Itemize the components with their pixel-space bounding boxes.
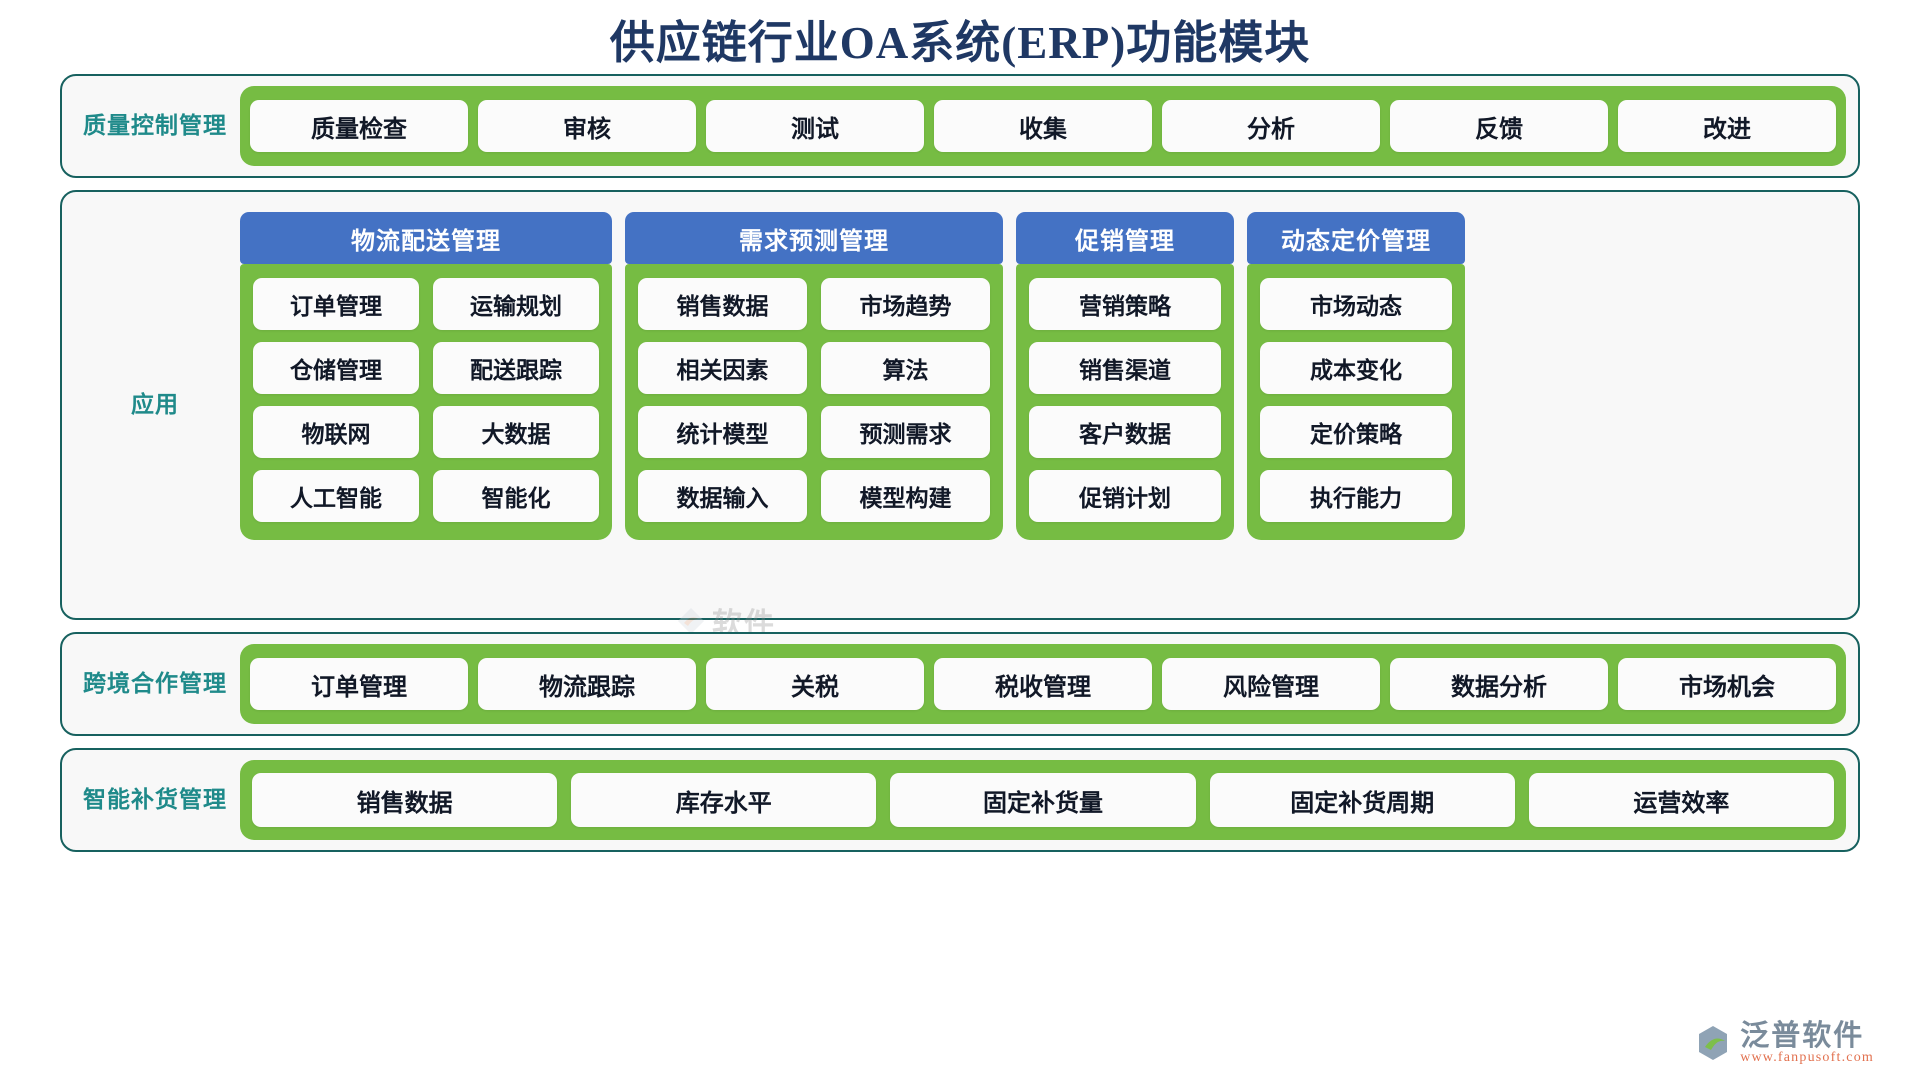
quality-item-3[interactable]: 收集 bbox=[934, 100, 1152, 152]
footer-logo-texts: 泛普软件 www.fanpusoft.com bbox=[1740, 1021, 1874, 1066]
diagram-canvas: 供应链行业OA系统(ERP)功能模块 质量控制管理 质量检查 审核 测试 收集 … bbox=[0, 0, 1920, 1080]
replenishment-item-0[interactable]: 销售数据 bbox=[252, 773, 557, 827]
forecast-item-3[interactable]: 算法 bbox=[821, 342, 990, 394]
replenishment-items-strip: 销售数据 库存水平 固定补货量 固定补货周期 运营效率 bbox=[240, 760, 1846, 840]
forecast-item-5[interactable]: 预测需求 bbox=[821, 406, 990, 458]
cross-border-item-5[interactable]: 数据分析 bbox=[1390, 658, 1608, 710]
logistics-item-3[interactable]: 配送跟踪 bbox=[433, 342, 599, 394]
app-column-body-demand-forecast: 销售数据 市场趋势 相关因素 算法 统计模型 预测需求 数据输入 模型构建 bbox=[625, 264, 1003, 540]
promotion-item-3[interactable]: 促销计划 bbox=[1029, 470, 1221, 522]
forecast-item-0[interactable]: 销售数据 bbox=[638, 278, 807, 330]
promotion-item-1[interactable]: 销售渠道 bbox=[1029, 342, 1221, 394]
section-label-application: 应用 bbox=[70, 192, 240, 618]
app-column-demand-forecast: 需求预测管理 销售数据 市场趋势 相关因素 算法 统计模型 预测需求 数据输入 … bbox=[625, 212, 1003, 540]
footer-logo-name: 泛普软件 bbox=[1740, 1021, 1874, 1051]
app-column-header-logistics: 物流配送管理 bbox=[240, 212, 612, 264]
promotion-item-2[interactable]: 客户数据 bbox=[1029, 406, 1221, 458]
section-cross-border: 跨境合作管理 订单管理 物流跟踪 关税 税收管理 风险管理 数据分析 市场机会 bbox=[60, 632, 1860, 736]
logistics-item-7[interactable]: 智能化 bbox=[433, 470, 599, 522]
section-quality-control: 质量控制管理 质量检查 审核 测试 收集 分析 反馈 改进 bbox=[60, 74, 1860, 178]
logistics-item-5[interactable]: 大数据 bbox=[433, 406, 599, 458]
logistics-item-2[interactable]: 仓储管理 bbox=[253, 342, 419, 394]
cross-border-item-1[interactable]: 物流跟踪 bbox=[478, 658, 696, 710]
replenishment-item-4[interactable]: 运营效率 bbox=[1529, 773, 1834, 827]
footer-logo: 泛普软件 www.fanpusoft.com bbox=[1694, 1021, 1874, 1066]
section-smart-replenishment: 智能补货管理 销售数据 库存水平 固定补货量 固定补货周期 运营效率 bbox=[60, 748, 1860, 852]
app-column-header-dynamic-pricing: 动态定价管理 bbox=[1247, 212, 1465, 264]
app-column-body-dynamic-pricing: 市场动态 成本变化 定价策略 执行能力 bbox=[1247, 264, 1465, 540]
forecast-item-6[interactable]: 数据输入 bbox=[638, 470, 807, 522]
footer-logo-url: www.fanpusoft.com bbox=[1740, 1051, 1874, 1066]
app-column-header-demand-forecast: 需求预测管理 bbox=[625, 212, 1003, 264]
pricing-item-3[interactable]: 执行能力 bbox=[1260, 470, 1452, 522]
pricing-item-2[interactable]: 定价策略 bbox=[1260, 406, 1452, 458]
app-column-dynamic-pricing: 动态定价管理 市场动态 成本变化 定价策略 执行能力 bbox=[1247, 212, 1465, 540]
cross-border-item-6[interactable]: 市场机会 bbox=[1618, 658, 1836, 710]
replenishment-item-3[interactable]: 固定补货周期 bbox=[1210, 773, 1515, 827]
pricing-item-0[interactable]: 市场动态 bbox=[1260, 278, 1452, 330]
logistics-item-6[interactable]: 人工智能 bbox=[253, 470, 419, 522]
logistics-item-1[interactable]: 运输规划 bbox=[433, 278, 599, 330]
cross-border-item-3[interactable]: 税收管理 bbox=[934, 658, 1152, 710]
page-title: 供应链行业OA系统(ERP)功能模块 bbox=[0, 6, 1920, 71]
quality-item-5[interactable]: 反馈 bbox=[1390, 100, 1608, 152]
section-label-quality-control: 质量控制管理 bbox=[70, 112, 240, 140]
app-column-body-promotion: 营销策略 销售渠道 客户数据 促销计划 bbox=[1016, 264, 1234, 540]
app-column-header-promotion: 促销管理 bbox=[1016, 212, 1234, 264]
forecast-item-7[interactable]: 模型构建 bbox=[821, 470, 990, 522]
forecast-item-2[interactable]: 相关因素 bbox=[638, 342, 807, 394]
app-column-body-logistics: 订单管理 运输规划 仓储管理 配送跟踪 物联网 大数据 人工智能 智能化 bbox=[240, 264, 612, 540]
logistics-item-0[interactable]: 订单管理 bbox=[253, 278, 419, 330]
forecast-item-4[interactable]: 统计模型 bbox=[638, 406, 807, 458]
cross-border-item-0[interactable]: 订单管理 bbox=[250, 658, 468, 710]
application-columns: 物流配送管理 订单管理 运输规划 仓储管理 配送跟踪 物联网 大数据 人工智能 … bbox=[240, 192, 1858, 618]
forecast-item-1[interactable]: 市场趋势 bbox=[821, 278, 990, 330]
quality-item-0[interactable]: 质量检查 bbox=[250, 100, 468, 152]
app-column-promotion: 促销管理 营销策略 销售渠道 客户数据 促销计划 bbox=[1016, 212, 1234, 540]
quality-item-2[interactable]: 测试 bbox=[706, 100, 924, 152]
section-label-smart-replenishment: 智能补货管理 bbox=[70, 786, 240, 814]
cross-border-item-4[interactable]: 风险管理 bbox=[1162, 658, 1380, 710]
promotion-item-0[interactable]: 营销策略 bbox=[1029, 278, 1221, 330]
cross-border-item-2[interactable]: 关税 bbox=[706, 658, 924, 710]
quality-item-1[interactable]: 审核 bbox=[478, 100, 696, 152]
app-column-logistics: 物流配送管理 订单管理 运输规划 仓储管理 配送跟踪 物联网 大数据 人工智能 … bbox=[240, 212, 612, 540]
quality-items-strip: 质量检查 审核 测试 收集 分析 反馈 改进 bbox=[240, 86, 1846, 166]
replenishment-item-1[interactable]: 库存水平 bbox=[571, 773, 876, 827]
cross-border-items-strip: 订单管理 物流跟踪 关税 税收管理 风险管理 数据分析 市场机会 bbox=[240, 644, 1846, 724]
fanpu-logo-icon bbox=[1694, 1024, 1732, 1062]
section-label-cross-border: 跨境合作管理 bbox=[70, 670, 240, 698]
logistics-item-4[interactable]: 物联网 bbox=[253, 406, 419, 458]
replenishment-item-2[interactable]: 固定补货量 bbox=[890, 773, 1195, 827]
quality-item-4[interactable]: 分析 bbox=[1162, 100, 1380, 152]
quality-item-6[interactable]: 改进 bbox=[1618, 100, 1836, 152]
section-application: 应用 物流配送管理 订单管理 运输规划 仓储管理 配送跟踪 物联网 大数据 人工… bbox=[60, 190, 1860, 620]
pricing-item-1[interactable]: 成本变化 bbox=[1260, 342, 1452, 394]
